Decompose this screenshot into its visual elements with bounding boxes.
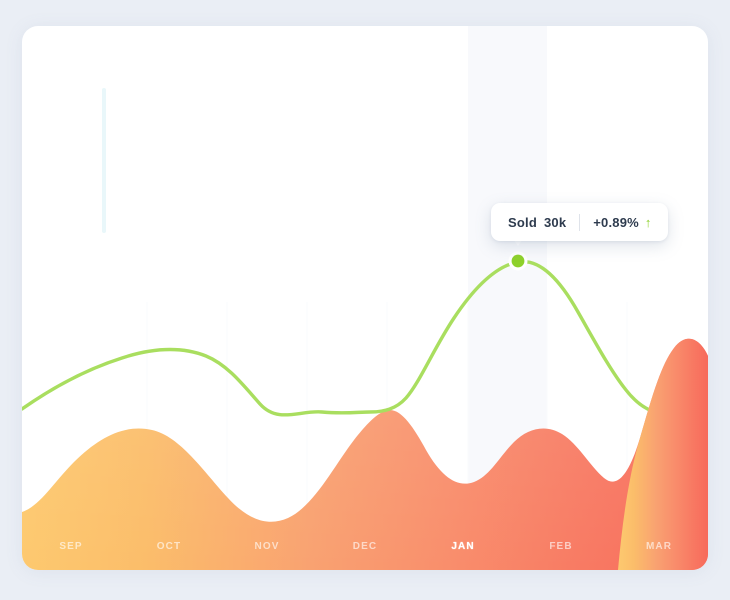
tooltip-metric-value: 30k [544, 215, 566, 230]
area-chart-canvas[interactable] [22, 26, 708, 570]
area-series-volume-front [618, 339, 708, 570]
data-point-tooltip: Sold 30k +0.89% ↑ [491, 203, 668, 241]
line-series-sold [22, 262, 668, 415]
tooltip-change-value: +0.89% [593, 215, 639, 230]
chart-screen: SEP OCT NOV DEC JAN FEB MAR Sold 30k +0.… [0, 0, 730, 600]
active-data-point-marker[interactable] [512, 255, 525, 268]
tooltip-divider [579, 214, 580, 231]
line-series-sold-group [22, 262, 668, 415]
area-series-volume-overlay [22, 339, 708, 570]
arrow-up-icon: ↑ [645, 216, 652, 229]
tooltip-metric-label: Sold [508, 215, 537, 230]
chart-card: SEP OCT NOV DEC JAN FEB MAR [22, 26, 708, 570]
